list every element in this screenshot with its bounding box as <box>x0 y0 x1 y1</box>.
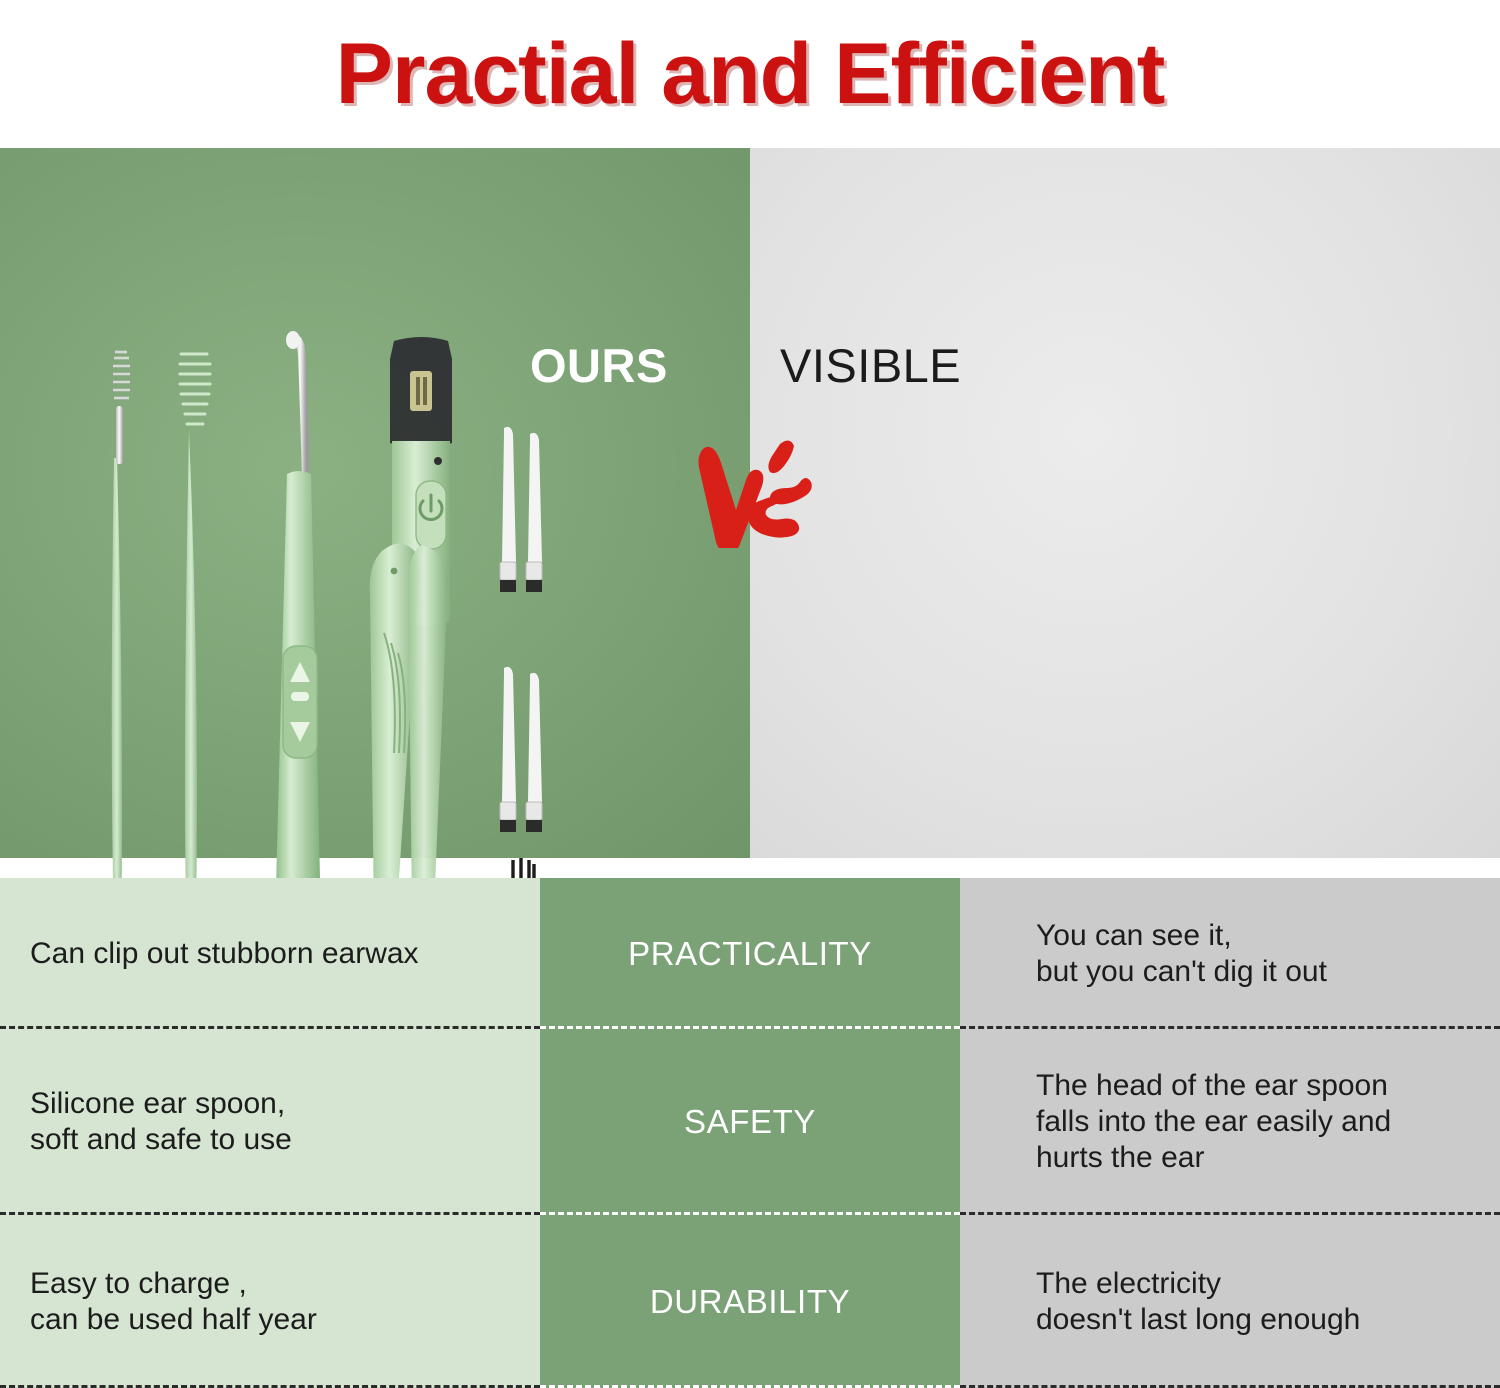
hero-left-panel: USB <box>0 148 750 858</box>
table-row: Can clip out stubborn earwax <box>0 878 540 1029</box>
vs-graphic <box>688 438 818 548</box>
comparison-table: Can clip out stubborn earwax Silicone ea… <box>0 878 1500 1388</box>
ours-row-2-line-2: soft and safe to use <box>30 1122 292 1158</box>
ours-row-1-text: Can clip out stubborn earwax <box>30 936 419 972</box>
comparison-column-theirs: You can see it, but you can't dig it out… <box>960 878 1500 1388</box>
theirs-row-2-line-3: hurts the ear <box>1036 1140 1391 1176</box>
comparison-column-ours: Can clip out stubborn earwax Silicone ea… <box>0 878 540 1388</box>
ours-label: OURS <box>530 338 668 393</box>
category-safety: SAFETY <box>684 1103 816 1141</box>
comparison-column-category: PRACTICALITY SAFETY DURABILITY <box>540 878 960 1388</box>
table-row: The head of the ear spoon falls into the… <box>960 1029 1500 1215</box>
title-bar: Practial and Efficient <box>0 0 1500 148</box>
hero-comparison-image: USB <box>0 148 1500 858</box>
category-durability: DURABILITY <box>650 1283 850 1321</box>
hero-right-panel: 10:20 4G ‹ Horizontal Dynamic Acne clean <box>750 148 1500 858</box>
table-row: Easy to charge , can be used half year <box>0 1215 540 1388</box>
theirs-row-1-line-2: but you can't dig it out <box>1036 954 1327 990</box>
page-title: Practial and Efficient <box>336 31 1165 117</box>
table-row: Silicone ear spoon, soft and safe to use <box>0 1029 540 1215</box>
theirs-row-2-line-2: falls into the ear easily and <box>1036 1104 1391 1140</box>
table-row: The electricity doesn't last long enough <box>960 1215 1500 1388</box>
replacement-tips-pair-1 <box>492 420 554 610</box>
visible-label: VISIBLE <box>780 338 961 393</box>
ours-row-3-line-2: can be used half year <box>30 1302 317 1338</box>
theirs-row-2-line-1: The head of the ear spoon <box>1036 1068 1391 1104</box>
table-row: PRACTICALITY <box>540 878 960 1029</box>
replacement-tips-pair-2 <box>492 660 554 850</box>
theirs-row-3-line-1: The electricity <box>1036 1266 1360 1302</box>
theirs-row-1-line-1: You can see it, <box>1036 918 1327 954</box>
ours-row-2-line-1: Silicone ear spoon, <box>30 1086 292 1122</box>
table-row: You can see it, but you can't dig it out <box>960 878 1500 1029</box>
category-practicality: PRACTICALITY <box>628 935 872 973</box>
table-row: DURABILITY <box>540 1215 960 1388</box>
ours-row-3-line-1: Easy to charge , <box>30 1266 317 1302</box>
theirs-row-3-line-2: doesn't last long enough <box>1036 1302 1360 1338</box>
table-row: SAFETY <box>540 1029 960 1215</box>
